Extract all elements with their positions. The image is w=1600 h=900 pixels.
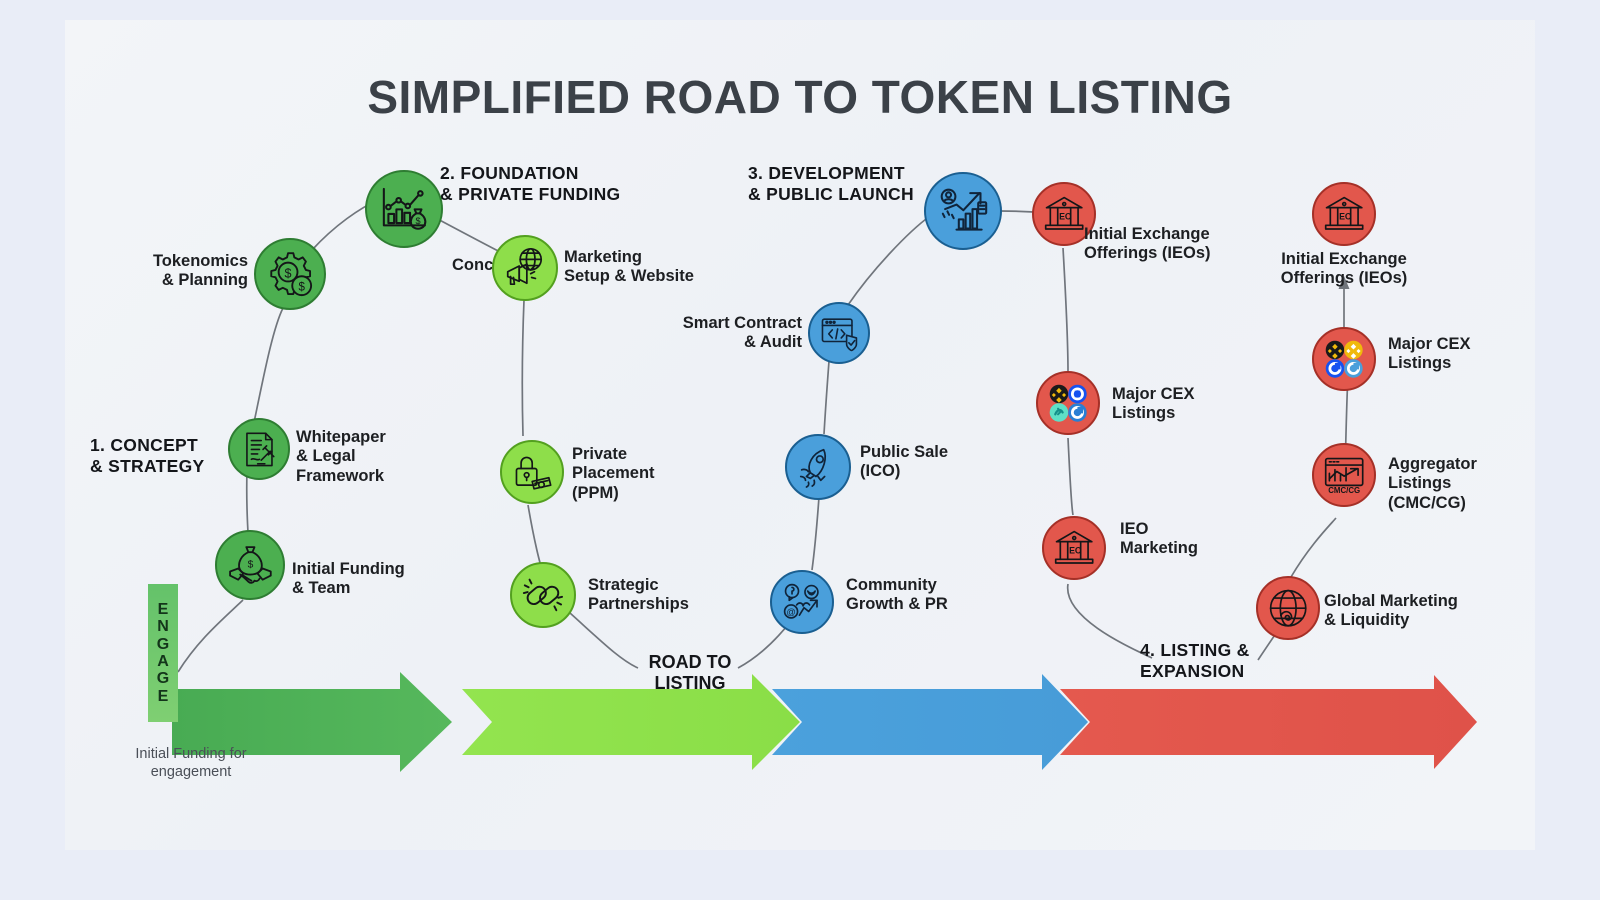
globe-liquidity-icon [1266, 586, 1310, 630]
node-major-cex-listings[interactable] [1036, 371, 1100, 435]
engage-bar: E N G A G E [148, 584, 178, 722]
node-initial-funding-team[interactable]: $ [215, 530, 285, 600]
svg-text:@: @ [786, 607, 795, 617]
megaphone-globe-icon [502, 245, 548, 291]
node-marketing-setup-website[interactable] [492, 235, 558, 301]
node-label-ieo-marketing: IEO Marketing [1120, 520, 1250, 559]
aggregator-chart-icon: CMC/CG [1322, 453, 1366, 497]
bank-ieo-icon: IEO [1052, 526, 1096, 570]
node-label-ieo-right: Initial Exchange Offerings (IEOs) [1254, 250, 1434, 289]
engage-letter-5: E [158, 688, 169, 705]
engage-letter-1: N [157, 618, 169, 635]
bank-ieo-icon: IEO [1042, 192, 1086, 236]
gear-dollar-icon: $ $ [265, 249, 315, 299]
node-label-public-sale-ico: Public Sale (ICO) [860, 443, 1010, 482]
node-label-marketing-setup-website: Marketing Setup & Website [564, 248, 744, 287]
chain-link-icon [520, 572, 566, 618]
page-title: SIMPLIFIED ROAD TO TOKEN LISTING [0, 70, 1600, 124]
bank-ieo-icon: IEO [1322, 192, 1366, 236]
node-label-initial-funding-team: Initial Funding & Team [292, 560, 462, 599]
node-label-strategic-partnerships: Strategic Partnerships [588, 576, 728, 615]
phase-label-4: 4. LISTING & EXPANSION [1140, 640, 1330, 682]
engage-letter-0: E [158, 601, 169, 618]
node-label-whitepaper-legal: Whitepaper & Legal Framework [296, 428, 446, 486]
infographic-root: SIMPLIFIED ROAD TO TOKEN LISTING [0, 0, 1600, 900]
engage-letter-4: G [157, 670, 169, 687]
node-smart-contract-audit[interactable] [808, 302, 870, 364]
svg-text:$: $ [247, 559, 253, 570]
node-tokenomics-planning[interactable]: $ $ [254, 238, 326, 310]
svg-text:$: $ [415, 216, 420, 226]
rocket-icon [795, 444, 841, 490]
svg-text:IEO: IEO [1336, 212, 1351, 222]
code-shield-icon [818, 312, 861, 355]
svg-text:$: $ [298, 281, 305, 293]
svg-text:IEO: IEO [1056, 212, 1071, 222]
node-label-major-cex-listings: Major CEX Listings [1112, 385, 1252, 424]
social-growth-icon: @ [780, 580, 824, 624]
node-strategic-partnerships[interactable] [510, 562, 576, 628]
node-label-global-marketing-liquidity: Global Marketing & Liquidity [1324, 592, 1514, 631]
node-ieo-right[interactable]: IEO [1312, 182, 1376, 246]
node-label-community-growth-pr: Community Growth & PR [846, 576, 1016, 615]
node-label-aggregator-listings: Aggregator Listings (CMC/CG) [1388, 455, 1548, 513]
node-public-sale-ico[interactable] [785, 434, 851, 500]
crypto-exchange-logos-icon [1046, 381, 1090, 425]
node-label-smart-contract-audit: Smart Contract & Audit [662, 314, 802, 353]
phase-label-2: 2. FOUNDATION & PRIVATE FUNDING [440, 163, 700, 205]
node-label-tokenomics-planning: Tokenomics & Planning [100, 252, 248, 291]
svg-text:CMC/CG: CMC/CG [1328, 486, 1360, 495]
engage-letter-3: A [157, 653, 169, 670]
node-label-major-cex-right: Major CEX Listings [1388, 335, 1538, 374]
road-to-listing-label: ROAD TO LISTING [620, 652, 760, 694]
node-major-cex-right[interactable] [1312, 327, 1376, 391]
node-global-marketing-liquidity[interactable] [1256, 576, 1320, 640]
chart-moneybag-icon: $ [377, 182, 432, 237]
node-ieo-marketing[interactable]: IEO [1042, 516, 1106, 580]
engage-letter-2: G [157, 636, 169, 653]
user-growth-chart-icon [936, 184, 991, 239]
engage-caption: Initial Funding for engagement [96, 745, 286, 781]
document-gavel-icon [238, 428, 281, 471]
svg-text:IEO: IEO [1066, 546, 1081, 556]
node-label-ieo-top: Initial Exchange Offerings (IEOs) [1084, 225, 1264, 264]
lock-cash-icon [510, 450, 554, 494]
node-community-growth-pr[interactable]: @ [770, 570, 834, 634]
node-whitepaper-legal[interactable] [228, 418, 290, 480]
node-label-private-placement-ppm: Private Placement (PPM) [572, 445, 722, 503]
node-growth-analytics[interactable] [924, 172, 1002, 250]
svg-text:$: $ [284, 266, 291, 280]
node-concepting[interactable]: $ [365, 170, 443, 248]
node-private-placement-ppm[interactable] [500, 440, 564, 504]
money-bag-handshake-icon: $ [226, 541, 275, 590]
node-aggregator-listings[interactable]: CMC/CG [1312, 443, 1376, 507]
crypto-exchange-logos-icon [1322, 337, 1366, 381]
